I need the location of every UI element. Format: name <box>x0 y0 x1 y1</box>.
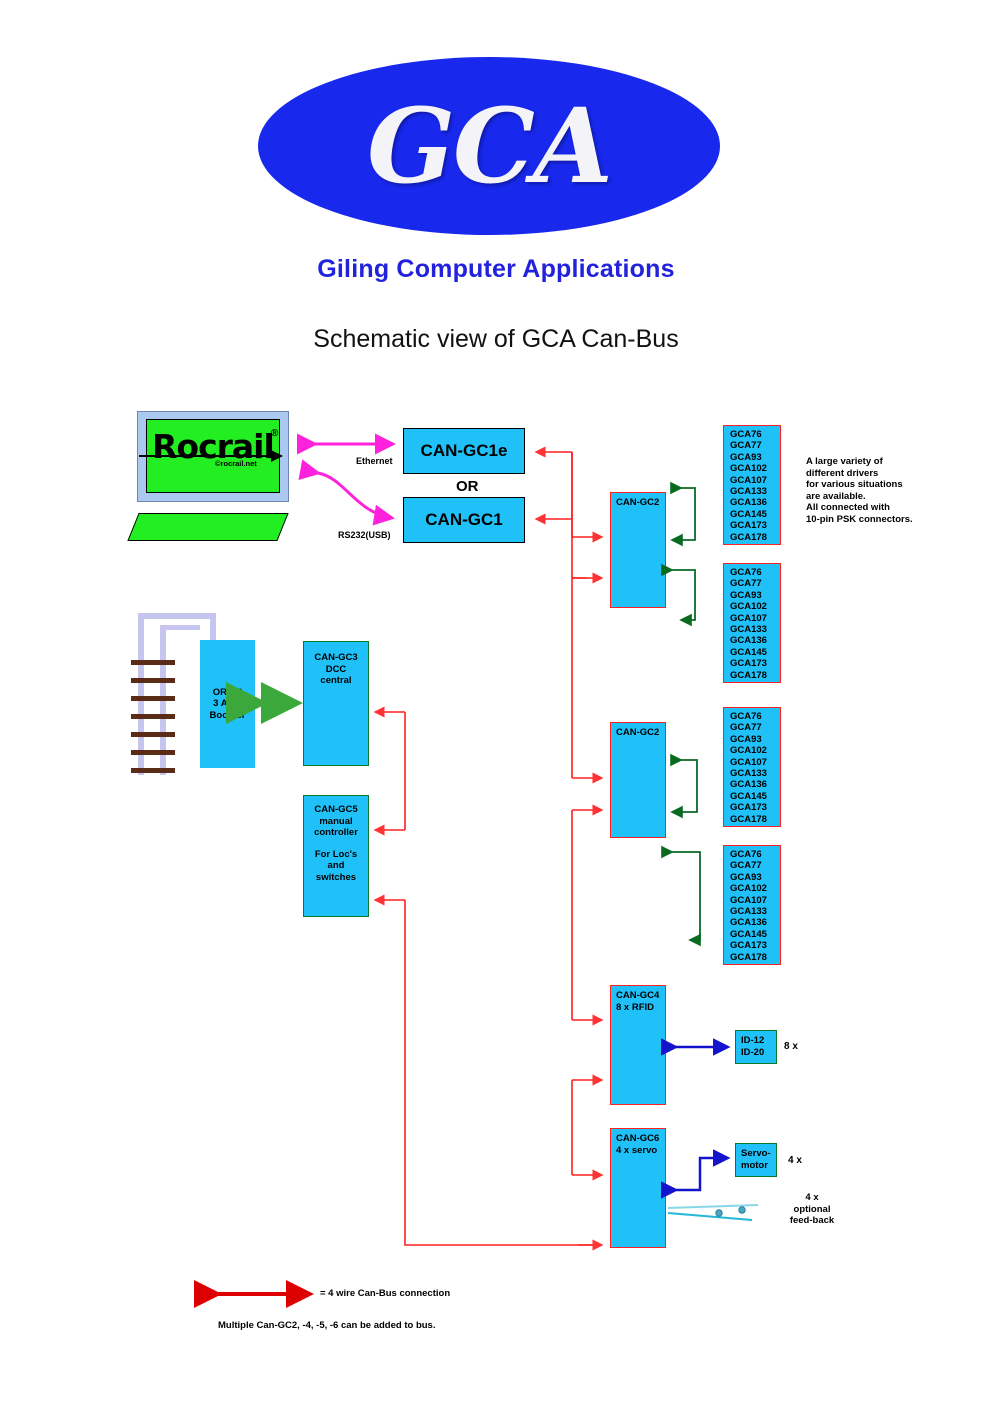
track-rail-curve-inner <box>160 625 200 630</box>
driver-item: GCA107 <box>730 475 780 486</box>
can-gc3-label: CAN-GC3 DCC central <box>304 642 368 687</box>
can-gc1-box[interactable]: CAN-GC1 <box>403 497 525 543</box>
can-gc5-line5: and <box>304 860 368 872</box>
driver-note-line: 10-pin PSK connectors. <box>806 514 981 526</box>
ord3-line3: Booster <box>210 710 246 722</box>
servo-line1: Servo- <box>741 1148 776 1160</box>
track-sleeper <box>131 714 175 719</box>
can-gc5-line3: controller <box>304 827 368 839</box>
or-label: OR <box>456 478 479 495</box>
track-sleeper <box>131 732 175 737</box>
ord3-line1: ORD-3 <box>210 687 246 699</box>
can-gc2-top-box[interactable]: CAN-GC2 <box>610 492 666 608</box>
servo-count-label: 4 x <box>788 1155 802 1166</box>
can-gc4-line2: 8 x RFID <box>616 1002 665 1014</box>
driver-item: GCA77 <box>730 722 780 733</box>
can-gc4-box[interactable]: CAN-GC4 8 x RFID <box>610 985 666 1105</box>
can-gc3-line2: DCC <box>304 664 368 676</box>
can-gc5-line6: switches <box>304 872 368 884</box>
legend-arrow-text: = 4 wire Can-Bus connection <box>320 1288 450 1300</box>
can-gc2-top-label: CAN-GC2 <box>611 493 665 509</box>
driver-item: GCA173 <box>730 802 780 813</box>
ethernet-link-label: Ethernet <box>356 456 393 466</box>
driver-item: GCA93 <box>730 734 780 745</box>
driver-list-box-2: GCA76 GCA77 GCA93 GCA102 GCA107 GCA133 G… <box>723 563 781 683</box>
can-gc5-box[interactable]: CAN-GC5 manual controller For Loc's and … <box>303 795 369 917</box>
can-bus-trunk-down-1 <box>572 519 587 578</box>
track-sleeper <box>131 750 175 755</box>
driver-list-box-4: GCA76 GCA77 GCA93 GCA102 GCA107 GCA133 G… <box>723 845 781 965</box>
can-gc3-line3: central <box>304 675 368 687</box>
driver-item: GCA102 <box>730 745 780 756</box>
driver-item: GCA102 <box>730 463 780 474</box>
rfid-line2: ID-20 <box>741 1047 776 1059</box>
driver-connector-4 <box>672 852 700 940</box>
can-gc4-label: CAN-GC4 8 x RFID <box>611 986 665 1013</box>
driver-item: GCA173 <box>730 940 780 951</box>
servo-line2: motor <box>741 1160 776 1172</box>
can-gc6-line2: 4 x servo <box>616 1145 665 1157</box>
driver-connector-1 <box>672 488 695 540</box>
driver-item: GCA76 <box>730 849 780 860</box>
can-gc1e-box[interactable]: CAN-GC1e <box>403 428 525 474</box>
driver-item: GCA145 <box>730 929 780 940</box>
can-gc6-label: CAN-GC6 4 x servo <box>611 1129 665 1156</box>
track-rail-curve-top <box>138 613 216 619</box>
driver-note: A large variety of different drivers for… <box>806 456 981 526</box>
track-sleeper <box>131 696 175 701</box>
laptop-keyboard <box>127 513 288 541</box>
driver-item: GCA76 <box>730 429 780 440</box>
driver-item: GCA173 <box>730 520 780 531</box>
feedback-contact-dot-left <box>716 1210 722 1216</box>
driver-item: GCA133 <box>730 486 780 497</box>
driver-item: GCA107 <box>730 613 780 624</box>
driver-connector-3 <box>672 760 697 812</box>
track-rail-curve-right <box>210 613 216 641</box>
gca-logo-text: GCA <box>258 57 720 235</box>
can-gc3-line1: CAN-GC3 <box>304 652 368 664</box>
driver-item: GCA76 <box>730 567 780 578</box>
driver-item: GCA173 <box>730 658 780 669</box>
rfid-count-label: 8 x <box>784 1041 798 1052</box>
driver-item: GCA178 <box>730 952 780 963</box>
driver-item: GCA107 <box>730 757 780 768</box>
track-rail-curve-top-left <box>138 615 144 645</box>
driver-item: GCA145 <box>730 647 780 658</box>
rocrail-wordmark: Rocrail <box>152 424 277 479</box>
driver-item: GCA76 <box>730 711 780 722</box>
driver-item: GCA93 <box>730 590 780 601</box>
ord3-booster-box[interactable]: ORD-3 3 Amp Booster <box>200 640 255 768</box>
rfid-line1: ID-12 <box>741 1035 776 1047</box>
can-gc2-mid-label: CAN-GC2 <box>611 723 665 739</box>
feedback-contact-dot-right <box>739 1207 745 1213</box>
driver-item: GCA133 <box>730 624 780 635</box>
driver-item: GCA107 <box>730 895 780 906</box>
can-gc4-line1: CAN-GC4 <box>616 990 665 1002</box>
driver-item: GCA102 <box>730 883 780 894</box>
feedback-line2: optional <box>777 1204 847 1216</box>
registered-trademark-icon: ® <box>271 428 278 439</box>
rs232-connector <box>318 473 392 518</box>
driver-note-line: All connected with <box>806 502 981 514</box>
driver-item: GCA133 <box>730 906 780 917</box>
feedback-wire-bottom <box>668 1213 752 1220</box>
ord3-booster-label: ORD-3 3 Amp Booster <box>201 641 254 767</box>
diagram-title: Schematic view of GCA Can-Bus <box>0 325 992 354</box>
driver-item: GCA178 <box>730 532 780 543</box>
driver-item: GCA93 <box>730 872 780 883</box>
feedback-line1: 4 x <box>777 1192 847 1204</box>
can-gc1-label: CAN-GC1 <box>404 498 524 542</box>
driver-item: GCA77 <box>730 440 780 451</box>
can-gc5-label: CAN-GC5 manual controller For Loc's and … <box>304 796 368 883</box>
can-gc2-mid-box[interactable]: CAN-GC2 <box>610 722 666 838</box>
can-gc1e-label: CAN-GC1e <box>404 429 524 473</box>
rocrail-url: ©rocrail.net <box>215 459 257 468</box>
feedback-wire-top <box>668 1205 758 1208</box>
driver-item: GCA136 <box>730 497 780 508</box>
company-name: Giling Computer Applications <box>0 255 992 284</box>
driver-item: GCA178 <box>730 670 780 681</box>
servo-connector <box>676 1158 728 1190</box>
ord3-line2: 3 Amp <box>210 698 246 710</box>
driver-item: GCA136 <box>730 917 780 928</box>
driver-connector-2 <box>672 570 695 620</box>
driver-item: GCA178 <box>730 814 780 825</box>
driver-list-box-1: GCA76 GCA77 GCA93 GCA102 GCA107 GCA133 G… <box>723 425 781 545</box>
can-gc5-line2: manual <box>304 816 368 828</box>
driver-item: GCA77 <box>730 578 780 589</box>
can-gc5-line1: CAN-GC5 <box>304 804 368 816</box>
driver-item: GCA136 <box>730 635 780 646</box>
driver-note-line: for various situations <box>806 479 981 491</box>
driver-list-box-3: GCA76 GCA77 GCA93 GCA102 GCA107 GCA133 G… <box>723 707 781 827</box>
driver-item: GCA145 <box>730 509 780 520</box>
rfid-reader-label: ID-12 ID-20 <box>736 1031 776 1058</box>
can-gc3-box[interactable]: CAN-GC3 DCC central <box>303 641 369 766</box>
driver-item: GCA145 <box>730 791 780 802</box>
legend-footnote: Multiple Can-GC2, -4, -5, -6 can be adde… <box>218 1320 435 1332</box>
track-sleeper <box>131 678 175 683</box>
driver-item: GCA102 <box>730 601 780 612</box>
can-gc6-box[interactable]: CAN-GC6 4 x servo <box>610 1128 666 1248</box>
driver-note-line: different drivers <box>806 468 981 480</box>
driver-item: GCA93 <box>730 452 780 463</box>
track-sleeper <box>131 660 175 665</box>
rfid-reader-box[interactable]: ID-12 ID-20 <box>735 1030 777 1064</box>
can-gc6-line1: CAN-GC6 <box>616 1133 665 1145</box>
feedback-line3: feed-back <box>777 1215 847 1227</box>
can-bus-gc5-lower <box>405 900 598 1245</box>
servo-motor-box[interactable]: Servo- motor <box>735 1143 777 1177</box>
driver-item: GCA133 <box>730 768 780 779</box>
driver-note-line: A large variety of <box>806 456 981 468</box>
driver-note-line: are available. <box>806 491 981 503</box>
servo-motor-label: Servo- motor <box>736 1144 776 1171</box>
feedback-note: 4 x optional feed-back <box>777 1192 847 1227</box>
driver-item: GCA77 <box>730 860 780 871</box>
driver-item: GCA136 <box>730 779 780 790</box>
rs232-link-label: RS232(USB) <box>338 530 391 540</box>
track-sleeper <box>131 768 175 773</box>
can-gc5-line4: For Loc's <box>304 849 368 861</box>
